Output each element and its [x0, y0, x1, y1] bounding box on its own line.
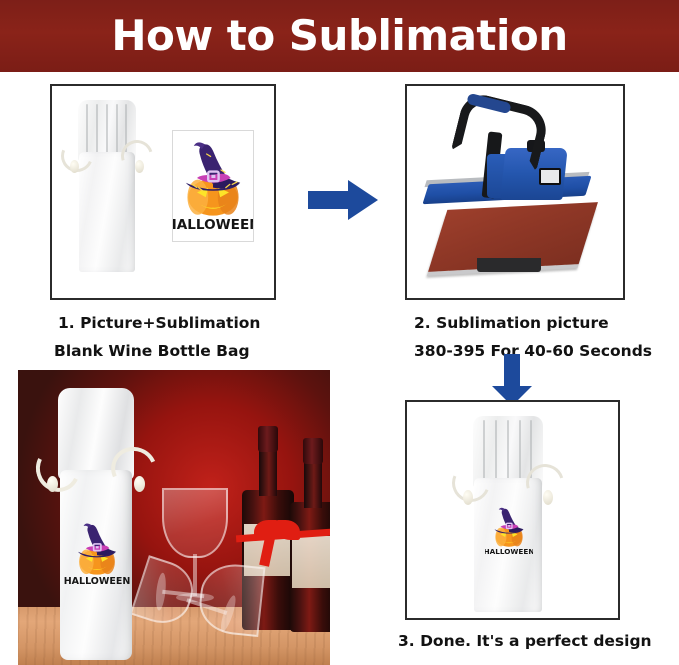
halloween-artwork: HALLOWEEN: [64, 516, 130, 592]
heat-press-machine: [415, 98, 619, 288]
bottle-cap: [258, 426, 278, 452]
step-2-caption-line1: 2. Sublimation picture: [414, 312, 609, 334]
sublimation-transfer-sheet: HALLOWEEN: [172, 130, 254, 242]
drawstring-knot-left: [70, 160, 79, 173]
bag-pleat: [519, 420, 521, 484]
heat-press-control-display: [539, 168, 561, 185]
drawstring-knot-right: [135, 160, 144, 173]
bag-pleat: [116, 104, 118, 158]
step-2-image-panel: [405, 84, 625, 300]
step-1-caption-line1: 1. Picture+Sublimation: [58, 312, 260, 334]
header-banner: How to Sublimation: [0, 0, 679, 72]
step-3-image-panel: HALLOWEEN: [405, 400, 620, 620]
drawstring-knot-left: [463, 490, 473, 505]
drawstring-knot-right: [543, 490, 553, 505]
wine-bottle-back-2: [290, 502, 330, 632]
arrow-right-icon: [306, 178, 380, 222]
bag-pleat: [96, 104, 98, 158]
bag-pleat: [495, 420, 497, 484]
wine-bottle-bag-blank: [74, 100, 140, 272]
infographic-root: How to Sublimation: [0, 0, 679, 665]
wine-glass-upright: [162, 488, 228, 558]
bottle-cap: [303, 438, 323, 464]
drawstring-knot-left: [47, 476, 58, 492]
header-banner-inner: How to Sublimation: [0, 0, 679, 72]
halloween-artwork: HALLOWEEN: [485, 502, 533, 560]
step-1-caption-line2: Blank Wine Bottle Bag: [54, 340, 250, 362]
heat-press-base: [477, 258, 541, 272]
artwork-text: HALLOWEEN: [485, 547, 533, 556]
bag-body: [79, 152, 135, 272]
halloween-artwork: HALLOWEEN: [173, 131, 253, 241]
step-3-caption: 3. Done. It's a perfect design: [398, 630, 652, 652]
glass-stem: [193, 554, 197, 596]
artwork-text: HALLOWEEN: [173, 217, 253, 233]
bag-pleat: [507, 420, 509, 484]
page-title: How to Sublimation: [111, 15, 567, 57]
bag-pleat: [106, 104, 108, 158]
step-3-lifestyle-photo: HALLOWEEN: [18, 370, 330, 665]
step-1-image-panel: HALLOWEEN: [50, 84, 276, 300]
printed-wine-bottle-bag: HALLOWEEN: [50, 388, 142, 660]
drawstring-knot-right: [134, 476, 145, 492]
artwork-text: HALLOWEEN: [64, 576, 130, 587]
bottle-label: [292, 536, 330, 588]
finished-wine-bottle-bag: HALLOWEEN: [467, 416, 549, 612]
